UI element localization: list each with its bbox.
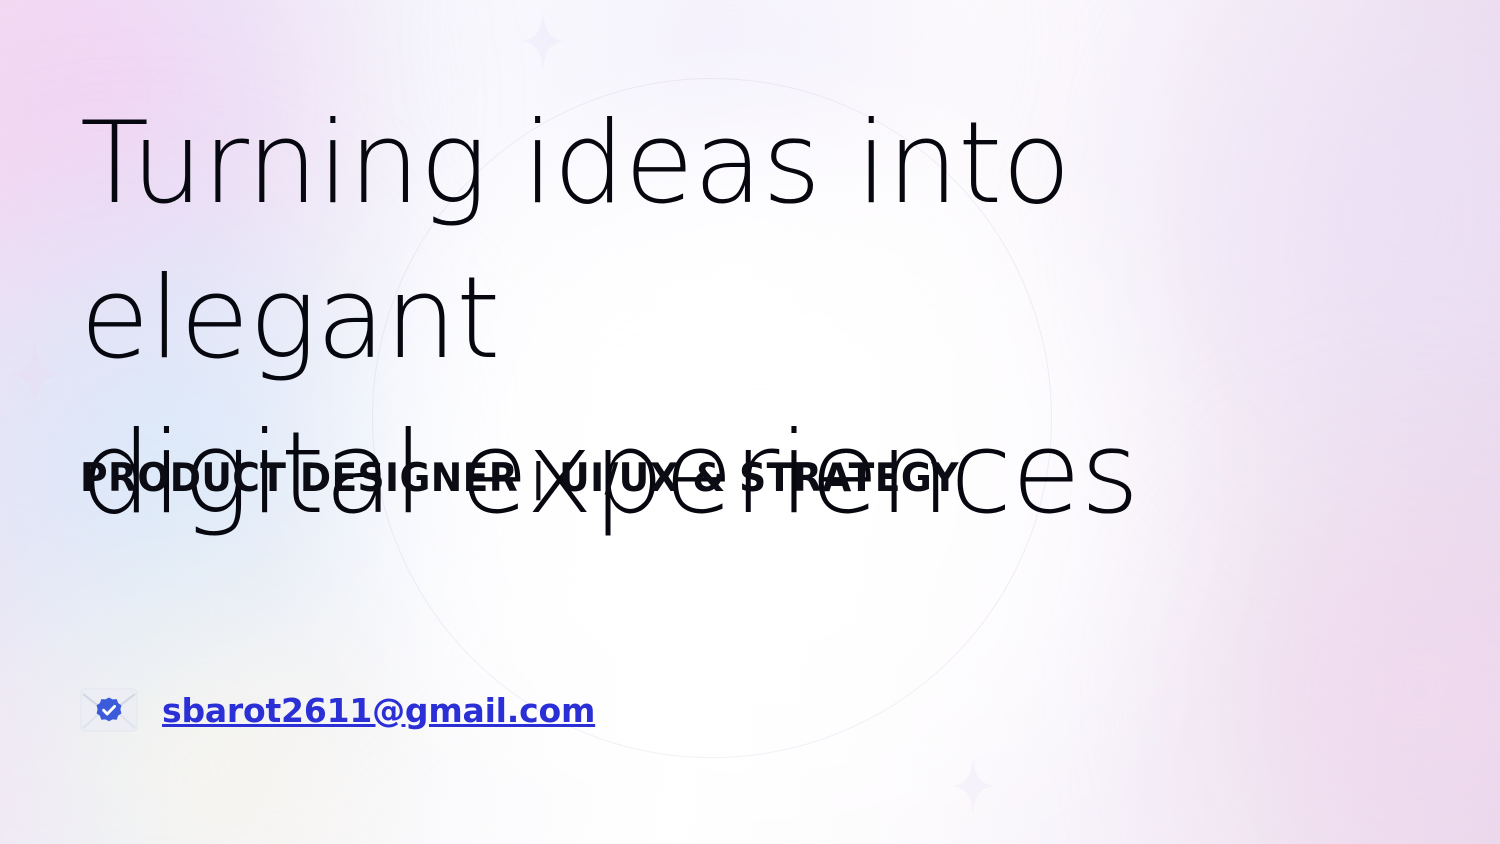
hero-subtitle: PRODUCT DESIGNER | UI/UX & STRATEGY <box>80 456 959 501</box>
hero-content: Turning ideas into elegant digital exper… <box>0 0 1500 844</box>
email-link[interactable]: sbarot2611@gmail.com <box>162 694 595 727</box>
envelope-verified-icon <box>80 688 138 732</box>
hero-banner: Turning ideas into elegant digital exper… <box>0 0 1500 844</box>
contact-row: sbarot2611@gmail.com <box>80 688 595 732</box>
